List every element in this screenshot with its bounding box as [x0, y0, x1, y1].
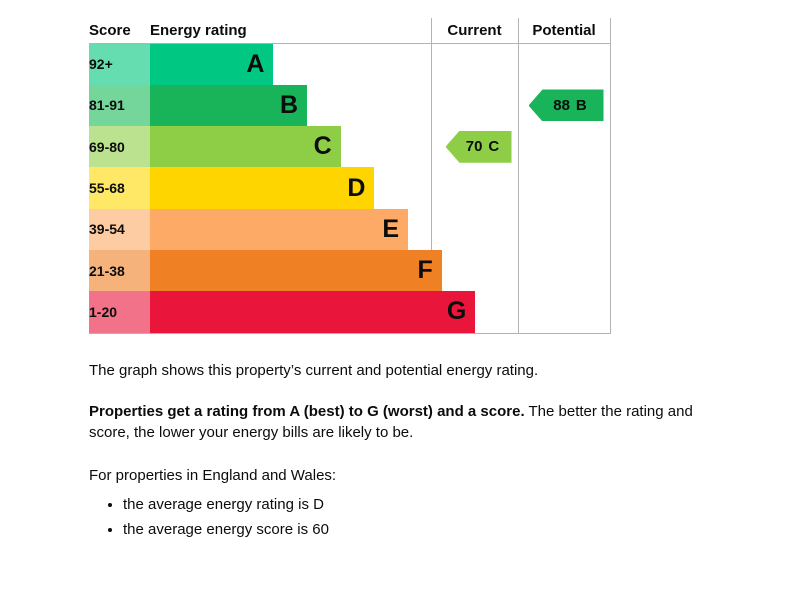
potential-meter-cell-d — [518, 167, 610, 208]
epc-rating-graph: Score Energy rating Current Potential 92… — [89, 18, 610, 334]
region-average-item: the average energy rating is D — [123, 494, 709, 515]
epc-band-row-b: 81-91B88B — [89, 85, 610, 126]
current-meter-cell-a — [431, 43, 518, 85]
header-score: Score — [89, 18, 150, 43]
band-letter-c: C — [314, 134, 332, 159]
potential-rating-arrow: 88B — [529, 89, 604, 121]
band-bar-cell-b: B — [150, 85, 431, 126]
band-bar-cell-a: A — [150, 43, 431, 85]
potential-rating-letter: B — [576, 97, 587, 114]
header-potential: Potential — [518, 18, 610, 43]
potential-meter-cell-a — [518, 43, 610, 85]
band-score-range-b: 81-91 — [89, 85, 150, 126]
header-current: Current — [431, 18, 518, 43]
band-bar-g: G — [150, 291, 475, 332]
explanatory-text: The graph shows this property’s current … — [89, 360, 709, 544]
band-bar-c: C — [150, 126, 341, 167]
epc-band-row-f: 21-38F — [89, 250, 610, 291]
potential-meter-cell-f — [518, 250, 610, 291]
current-rating-score: 70 — [466, 138, 483, 155]
band-score-range-a: 92+ — [89, 43, 150, 85]
band-bar-cell-f: F — [150, 250, 431, 291]
band-bar-b: B — [150, 85, 307, 126]
potential-rating-score: 88 — [553, 97, 570, 114]
band-score-range-c: 69-80 — [89, 126, 150, 167]
potential-meter-cell-b: 88B — [518, 85, 610, 126]
epc-band-row-g: 1-20G — [89, 291, 610, 333]
table-header-row: Score Energy rating Current Potential — [89, 18, 610, 43]
epc-band-row-e: 39-54E — [89, 209, 610, 250]
band-bar-cell-d: D — [150, 167, 431, 208]
epc-band-row-d: 55-68D — [89, 167, 610, 208]
band-letter-e: E — [382, 217, 399, 242]
current-meter-cell-f — [431, 250, 518, 291]
potential-meter-cell-c — [518, 126, 610, 167]
band-letter-a: A — [246, 52, 264, 77]
band-letter-b: B — [280, 93, 298, 118]
band-letter-d: D — [347, 176, 365, 201]
current-rating-letter: C — [488, 138, 499, 155]
graph-intro-paragraph: The graph shows this property’s current … — [89, 360, 709, 381]
band-score-range-e: 39-54 — [89, 209, 150, 250]
band-bar-cell-g: G — [150, 291, 431, 333]
region-average-item: the average energy score is 60 — [123, 519, 709, 540]
band-score-range-d: 55-68 — [89, 167, 150, 208]
header-energy-rating: Energy rating — [150, 18, 431, 43]
band-bar-cell-e: E — [150, 209, 431, 250]
band-bar-e: E — [150, 209, 408, 250]
potential-meter-cell-g — [518, 291, 610, 333]
current-meter-cell-e — [431, 209, 518, 250]
band-bar-a: A — [150, 44, 273, 85]
region-lead-paragraph: For properties in England and Wales: — [89, 465, 709, 486]
region-average-list: the average energy rating is Dthe averag… — [89, 494, 709, 540]
rating-explanation-bold: Properties get a rating from A (best) to… — [89, 403, 525, 420]
current-meter-cell-c: 70C — [431, 126, 518, 167]
band-score-range-f: 21-38 — [89, 250, 150, 291]
current-meter-cell-b — [431, 85, 518, 126]
band-bar-f: F — [150, 250, 442, 291]
band-bar-cell-c: C — [150, 126, 431, 167]
epc-band-row-c: 69-80C70C — [89, 126, 610, 167]
band-score-range-g: 1-20 — [89, 291, 150, 333]
current-meter-cell-d — [431, 167, 518, 208]
epc-band-rows: 92+A81-91B88B69-80C70C55-68D39-54E21-38F… — [89, 43, 610, 333]
band-bar-d: D — [150, 167, 374, 208]
epc-band-row-a: 92+A — [89, 43, 610, 85]
epc-table: Score Energy rating Current Potential 92… — [89, 18, 611, 334]
potential-meter-cell-e — [518, 209, 610, 250]
rating-explanation-paragraph: Properties get a rating from A (best) to… — [89, 401, 709, 443]
current-meter-cell-g — [431, 291, 518, 333]
current-rating-arrow: 70C — [446, 131, 512, 163]
